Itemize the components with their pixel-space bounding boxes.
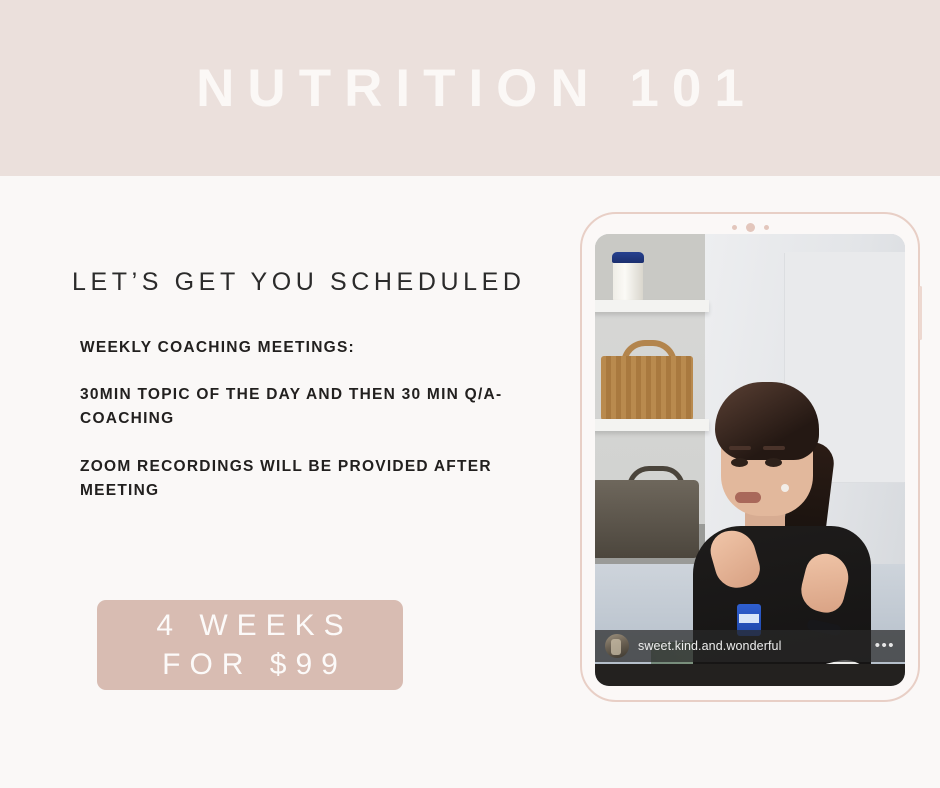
person-eye-left [731,458,748,467]
phone-side-button[interactable] [919,286,922,340]
wicker-basket [601,356,693,422]
handbag [595,480,699,558]
person-mouth [735,492,761,503]
person-brow-left [729,446,751,450]
post-photo [595,234,905,686]
section-heading: LET’S GET YOU SCHEDULED [72,270,526,295]
avatar[interactable] [605,634,629,658]
header-banner: NUTRITION 101 [0,0,940,176]
phone-screen: sweet.kind.and.wonderful ••• [595,234,905,686]
shelf-backing [595,234,705,300]
small-dot-left [732,225,737,230]
price-line-duration: 4 WEEKS [147,606,352,645]
person-eye-right [765,458,782,467]
person-brow-right [763,446,785,450]
page-title: NUTRITION 101 [183,62,757,115]
post-username[interactable]: sweet.kind.and.wonderful [638,639,866,653]
shelf-board-lower [595,419,709,431]
topic-of-day-text: 30MIN TOPIC OF THE DAY AND THEN 30 MIN Q… [80,383,570,431]
more-options-icon[interactable]: ••• [875,642,895,650]
large-dot-center [746,223,755,232]
zoom-recordings-text: ZOOM RECORDINGS WILL BE PROVIDED AFTER M… [80,455,570,503]
shelf-board-upper [595,300,709,312]
price-cta-button[interactable]: 4 WEEKS FOR $99 [97,600,403,690]
price-line-amount: FOR $99 [153,645,347,684]
name-badge-label [739,614,759,623]
phone-mockup: sweet.kind.and.wonderful ••• [580,212,920,702]
coaching-meetings-text: WEEKLY COACHING MEETINGS: [80,336,570,360]
phone-speaker-dots [582,223,918,232]
small-dot-right [764,225,769,230]
content-column: LET’S GET YOU SCHEDULED WEEKLY COACHING … [0,176,575,788]
post-username-bar: sweet.kind.and.wonderful ••• [595,630,905,662]
person-earring [781,484,789,492]
photo-bottom-band [595,664,905,686]
shaker-bottle-lid [612,252,644,263]
